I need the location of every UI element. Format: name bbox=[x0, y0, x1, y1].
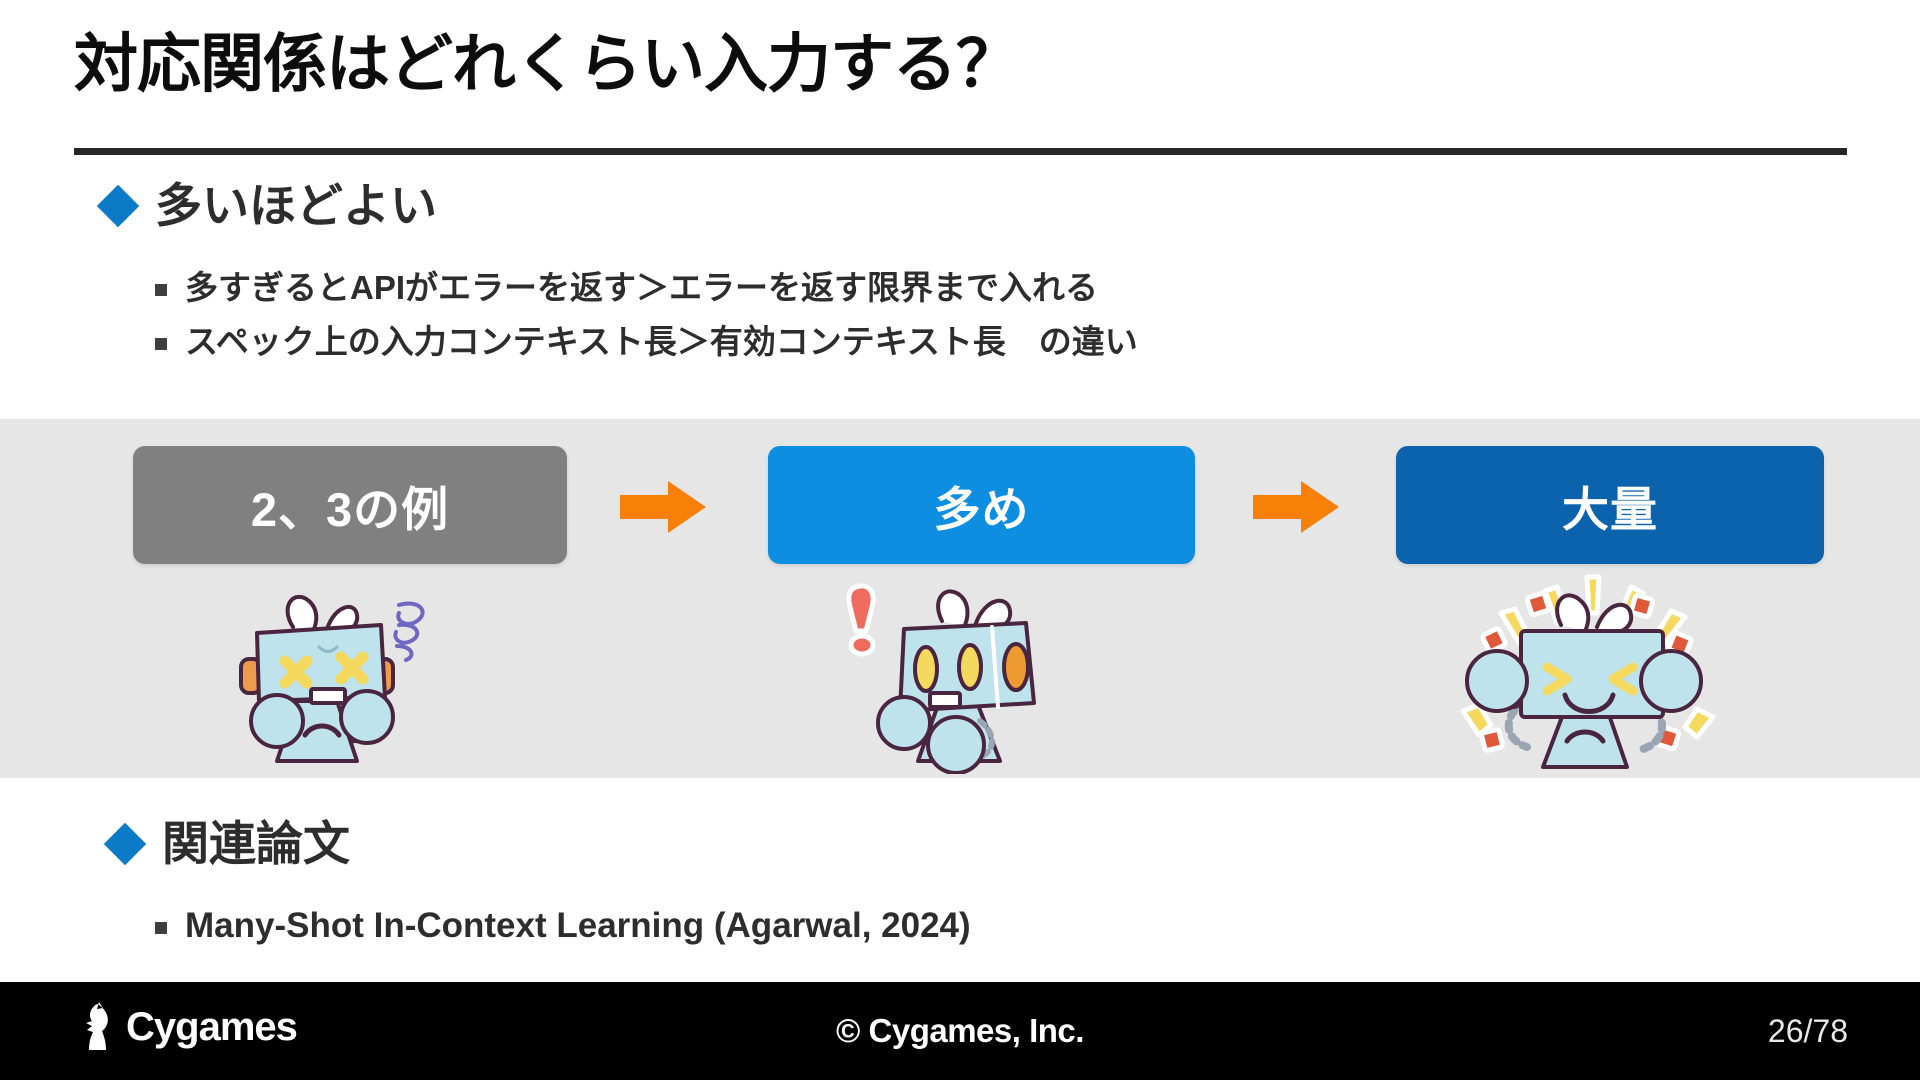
progression-diagram-panel: 2、3の例 多め 大量 bbox=[0, 419, 1920, 778]
bullet-item: 多すぎるとAPIがエラーを返す＞エラーを返す限界まで入れる bbox=[155, 268, 1098, 308]
orange-right-arrow-icon bbox=[1253, 479, 1339, 535]
blue-diamond-icon bbox=[97, 184, 139, 226]
footer-copyright: © Cygames, Inc. bbox=[0, 982, 1920, 1080]
bullet-item: Many-Shot In-Context Learning (Agarwal, … bbox=[155, 905, 971, 947]
square-bullet-icon bbox=[155, 338, 167, 350]
page-number: 26/78 bbox=[1768, 982, 1848, 1080]
bullet-label: スペック上の入力コンテキスト長＞有効コンテキスト長 の違い bbox=[185, 322, 1138, 362]
stage-box-label: 多め bbox=[934, 471, 1030, 540]
section-heading-label: 関連論文 bbox=[162, 820, 350, 867]
bullet-label: Many-Shot In-Context Learning (Agarwal, … bbox=[185, 905, 971, 947]
stage-box-label: 2、3の例 bbox=[251, 471, 449, 540]
orange-right-arrow-icon bbox=[620, 479, 706, 535]
slide-footer: Cygames © Cygames, Inc. 26/78 bbox=[0, 982, 1920, 1080]
section-heading-more-is-better: 多いほどよい bbox=[103, 182, 437, 229]
page-title: 対応関係はどれくらい入力する？ bbox=[74, 28, 1019, 102]
title-divider bbox=[74, 148, 1847, 155]
square-bullet-icon bbox=[155, 922, 167, 934]
stage-box-many: 多め bbox=[768, 446, 1195, 564]
section-heading-related-papers: 関連論文 bbox=[110, 820, 350, 867]
square-bullet-icon bbox=[155, 284, 167, 296]
bullet-label: 多すぎるとAPIがエラーを返す＞エラーを返す限界まで入れる bbox=[185, 268, 1098, 308]
blue-diamond-icon bbox=[104, 822, 146, 864]
section-heading-label: 多いほどよい bbox=[155, 182, 437, 229]
celebrating-robot-icon bbox=[1455, 569, 1725, 774]
stage-box-massive: 大量 bbox=[1396, 446, 1824, 564]
slide-canvas: 対応関係はどれくらい入力する？ 多いほどよい 多すぎるとAPIがエラーを返す＞エ… bbox=[0, 0, 1920, 1080]
stage-box-label: 大量 bbox=[1562, 471, 1658, 540]
dizzy-robot-icon bbox=[185, 569, 455, 774]
surprised-robot-icon bbox=[820, 569, 1090, 774]
stage-box-few-examples: 2、3の例 bbox=[133, 446, 567, 564]
bullet-item: スペック上の入力コンテキスト長＞有効コンテキスト長 の違い bbox=[155, 322, 1138, 362]
